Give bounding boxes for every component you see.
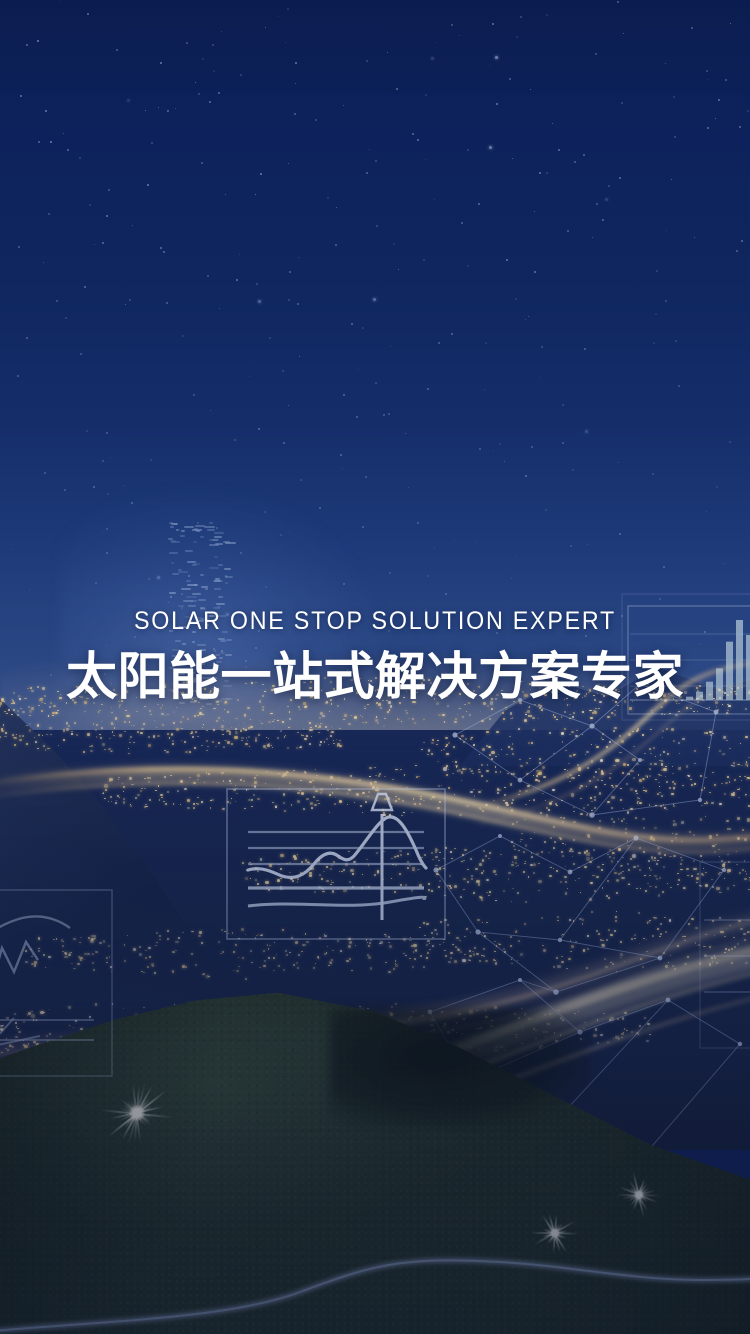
hero-headline: 太阳能一站式解决方案专家: [0, 647, 750, 707]
hero-subtitle: SOLAR ONE STOP SOLUTION EXPERT: [26, 604, 724, 638]
hero-banner: SOLAR ONE STOP SOLUTION EXPERT 太阳能一站式解决方…: [0, 0, 750, 1334]
hero-text-block: SOLAR ONE STOP SOLUTION EXPERT 太阳能一站式解决方…: [0, 604, 750, 707]
